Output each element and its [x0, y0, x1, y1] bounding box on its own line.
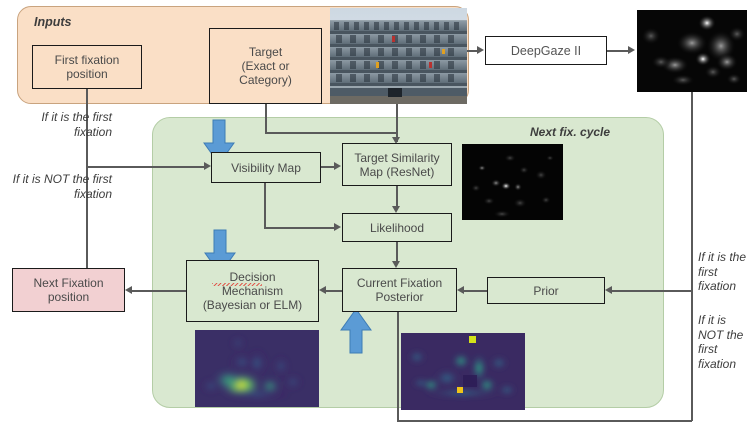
arrowhead-to-saliency-map: [628, 46, 635, 54]
box-target-similarity-map[interactable]: Target Similarity Map (ResNet): [342, 143, 452, 186]
box-prior[interactable]: Prior: [487, 277, 605, 304]
connector-saliency-down: [691, 92, 693, 291]
visibility-map-label: Visibility Map: [228, 161, 304, 175]
connector-bottom-loop: [397, 420, 692, 422]
connector-target-down: [265, 104, 267, 133]
prior-label: Prior: [530, 284, 561, 298]
box-decision-mechanism[interactable]: Decision Mechanism (Bayesian or ELM): [186, 260, 319, 322]
connector-visibility-to-tsm: [321, 166, 335, 168]
target-similarity-map-image: [462, 144, 563, 220]
spellcheck-underline: [212, 283, 262, 286]
connector-visibility-to-likelihood: [264, 227, 335, 229]
connector-tsm-to-likelihood: [396, 186, 398, 207]
label-right-not-first-fixation: If it is NOT the first fixation: [698, 313, 752, 371]
arrowhead-to-deepgaze: [477, 46, 484, 54]
connector-posterior-to-decision: [326, 290, 342, 292]
decision-heatmap-image: [195, 330, 319, 407]
first-fixation-line1: First fixation: [52, 53, 123, 67]
cfp-line2: Posterior: [354, 290, 445, 304]
connector-deepgaze-to-saliency: [607, 50, 629, 52]
decision-line3: (Bayesian or ELM): [200, 298, 305, 312]
box-target[interactable]: Target (Exact or Category): [209, 28, 322, 104]
arrowhead-posterior-from-prior: [457, 286, 464, 294]
next-fixation-line1: Next Fixation: [30, 276, 106, 290]
connector-likelihood-to-posterior: [396, 242, 398, 262]
arrowhead-posterior-from-likelihood: [392, 261, 400, 268]
connector-decision-to-nextfix: [132, 290, 186, 292]
connector-visibility-down: [264, 183, 266, 228]
arrowhead-to-prior: [605, 286, 612, 294]
likelihood-label: Likelihood: [367, 221, 427, 235]
target-photo: [330, 8, 467, 104]
cfp-line1: Current Fixation: [354, 276, 445, 290]
box-next-fixation-position[interactable]: Next Fixation position: [12, 268, 125, 312]
label-left-first-fixation: If it is the first fixation: [0, 110, 112, 139]
diagram-canvas: Inputs Next fix. cycle: [0, 0, 752, 427]
decision-line2: Mechanism: [200, 284, 305, 298]
box-first-fixation-position[interactable]: First fixation position: [32, 45, 142, 89]
deepgaze-label: DeepGaze II: [508, 44, 584, 58]
arrowhead-tsm-from-visibility: [334, 162, 341, 170]
arrowhead-likelihood-from-tsm: [392, 206, 400, 213]
connector-target-right: [265, 132, 397, 134]
first-fixation-line2: position: [52, 67, 123, 81]
target-line1: Target: [236, 45, 295, 59]
connector-prior-to-posterior: [464, 290, 488, 292]
inputs-panel-title: Inputs: [34, 15, 72, 29]
box-likelihood[interactable]: Likelihood: [342, 213, 452, 242]
connector-firstfix-to-visibility: [86, 166, 205, 168]
connector-right-down-to-loop: [691, 290, 693, 421]
blue-up-arrow-posterior: [340, 308, 372, 354]
tsm-line2: Map (ResNet): [351, 165, 442, 179]
arrowhead-decision-from-posterior: [319, 286, 326, 294]
arrowhead-to-likelihood-from-visibility: [334, 223, 341, 231]
tsm-line1: Target Similarity: [351, 151, 442, 165]
target-line3: Category): [236, 73, 295, 87]
box-current-fixation-posterior[interactable]: Current Fixation Posterior: [342, 268, 457, 312]
connector-right-into-prior: [612, 290, 692, 292]
target-line2: (Exact or: [236, 59, 295, 73]
arrowhead-nextfix-from-decision: [125, 286, 132, 294]
posterior-heatmap-image: [401, 333, 525, 410]
deepgaze-saliency-map: [637, 10, 747, 92]
label-right-first-fixation: If it is the first fixation: [698, 250, 752, 294]
decision-line1: Decision: [200, 270, 305, 284]
connector-posterior-down-to-loop: [397, 312, 399, 421]
box-deepgaze-ii[interactable]: DeepGaze II: [485, 36, 607, 65]
next-fixation-line2: position: [30, 290, 106, 304]
cycle-panel-title: Next fix. cycle: [530, 125, 610, 139]
label-left-not-first-fixation: If it is NOT the first fixation: [0, 172, 112, 201]
box-visibility-map[interactable]: Visibility Map: [211, 152, 321, 183]
